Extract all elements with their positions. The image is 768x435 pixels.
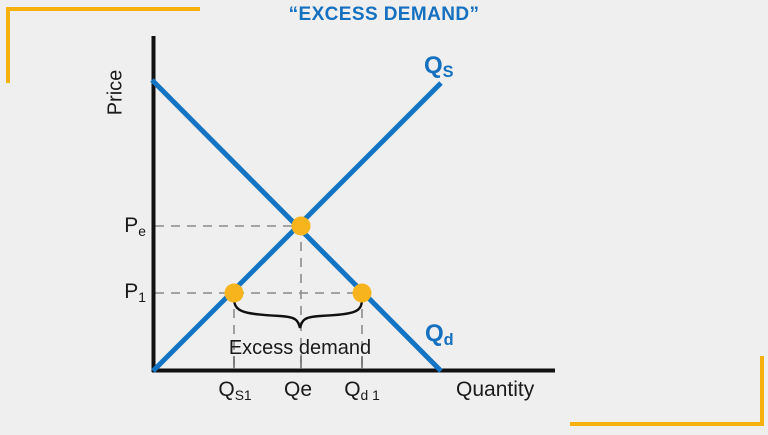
y-tick-pe-sub: e: [138, 223, 146, 239]
excess-demand-chart: Price Quantity Pe P1 QS1 Qe Qd 1 QS Qd E…: [0, 0, 768, 435]
marker-quantity-supplied-at-p1: [225, 284, 244, 303]
y-tick-label-p1: P1: [100, 280, 146, 304]
x-tick-label-qs1: QS1: [204, 378, 266, 402]
x-tick-label-qe: Qe: [270, 378, 326, 402]
slide-canvas: “EXCESS DEMAND”: [0, 0, 768, 435]
marker-equilibrium: [292, 217, 311, 236]
y-axis-label-text: Price: [105, 50, 128, 136]
x-tick-qd1-base: Q: [344, 378, 360, 401]
x-axis-label: Quantity: [456, 378, 534, 402]
y-tick-pe-base: P: [124, 214, 138, 237]
demand-curve-label-sub: d: [444, 331, 454, 349]
excess-demand-annotation-text: Excess demand: [204, 337, 396, 360]
supply-curve-label: QS: [424, 52, 454, 80]
supply-curve-label-sub: S: [443, 63, 454, 81]
x-tick-qs1-base: Q: [218, 378, 234, 401]
demand-curve-label-base: Q: [425, 320, 444, 347]
x-tick-label-qd1: Qd 1: [330, 378, 394, 402]
y-tick-p1-base: P: [124, 280, 138, 303]
marker-quantity-demanded-at-p1: [353, 284, 372, 303]
demand-curve-label: Qd: [425, 320, 454, 348]
excess-demand-brace: [234, 298, 362, 328]
y-axis-label: Price: [104, 46, 128, 136]
y-tick-label-pe: Pe: [100, 214, 146, 238]
supply-curve-label-base: Q: [424, 52, 443, 79]
x-tick-qs1-sub: S1: [235, 387, 252, 403]
x-tick-qd1-sub: d 1: [361, 387, 380, 403]
y-tick-p1-sub: 1: [138, 289, 146, 305]
